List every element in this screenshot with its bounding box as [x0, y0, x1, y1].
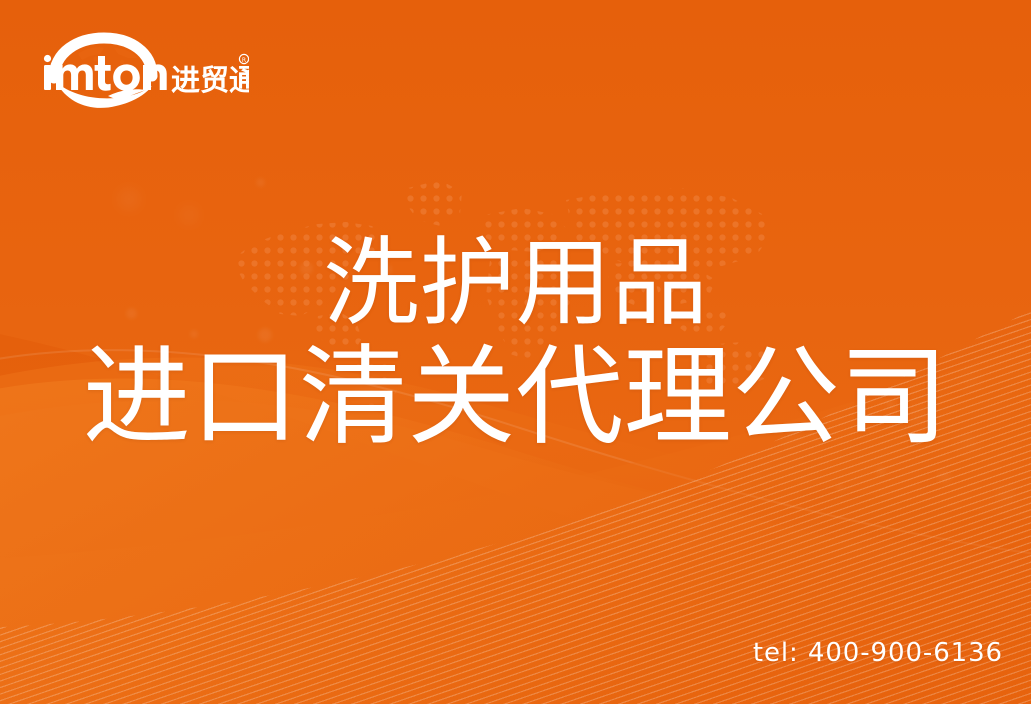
contact-telephone[interactable]: tel: 400-900-6136 — [753, 638, 1003, 668]
brand-logo[interactable]: 进贸通 R — [34, 32, 249, 108]
svg-text:R: R — [242, 57, 246, 64]
poster-canvas: 进贸通 R 洗护用品 进口清关代理公司 tel: 400-900-6136 — [0, 0, 1031, 704]
wordmark-cn: 进贸通 — [171, 63, 249, 97]
headline-line-1: 洗护用品 — [0, 232, 1031, 336]
headline-line-2: 进口清关代理公司 — [0, 338, 1031, 459]
page-title: 洗护用品 进口清关代理公司 — [0, 232, 1031, 459]
trademark-icon: R — [239, 54, 248, 64]
svg-text:进贸通: 进贸通 — [171, 63, 249, 97]
